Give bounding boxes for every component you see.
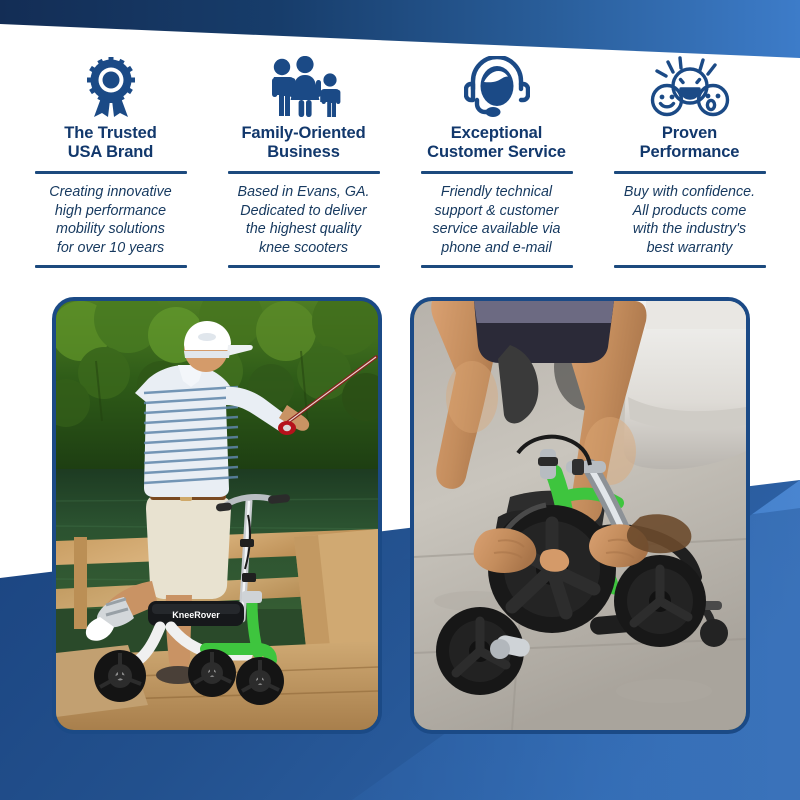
feature-column-exceptional-customer-service: Exceptional Customer Service Friendly te… [400, 56, 593, 268]
photo-man-fishing-on-dock-with-knee-scooter: KneeRover [52, 297, 382, 734]
feature-title: The Trusted USA Brand [64, 124, 156, 164]
divider-top [35, 171, 187, 174]
feature-column-family-oriented-business: Family-Oriented Business Based in Evans,… [207, 56, 400, 268]
divider-top [421, 171, 573, 174]
feature-title: Exceptional Customer Service [427, 124, 566, 164]
divider-bottom [228, 265, 380, 268]
feature-column-proven-performance: Proven Performance Buy with confidence. … [593, 56, 786, 268]
headset-support-icon [464, 56, 530, 118]
family-group-icon [265, 56, 343, 118]
banner-stage: The Trusted USA Brand Creating innovativ… [0, 0, 800, 800]
award-rosette-icon [82, 56, 140, 118]
feature-column-trusted-usa-brand: The Trusted USA Brand Creating innovativ… [14, 56, 207, 268]
feature-body: Friendly technical support & customer se… [433, 183, 561, 257]
feature-title: Proven Performance [640, 124, 740, 164]
divider-top [228, 171, 380, 174]
scooter-brand-label: KneeRover [172, 610, 220, 620]
feature-title: Family-Oriented Business [241, 124, 365, 164]
feature-body: Creating innovative high performance mob… [49, 183, 171, 257]
photo-person-folding-knee-scooter [410, 297, 750, 734]
divider-top [614, 171, 766, 174]
divider-bottom [614, 265, 766, 268]
feature-body: Based in Evans, GA. Dedicated to deliver… [238, 183, 370, 257]
divider-bottom [421, 265, 573, 268]
divider-bottom [35, 265, 187, 268]
product-photo-row: KneeRover [0, 297, 800, 737]
feature-body: Buy with confidence. All products come w… [624, 183, 755, 257]
feature-columns: The Trusted USA Brand Creating innovativ… [0, 56, 800, 268]
three-smiley-faces-icon [647, 56, 733, 118]
